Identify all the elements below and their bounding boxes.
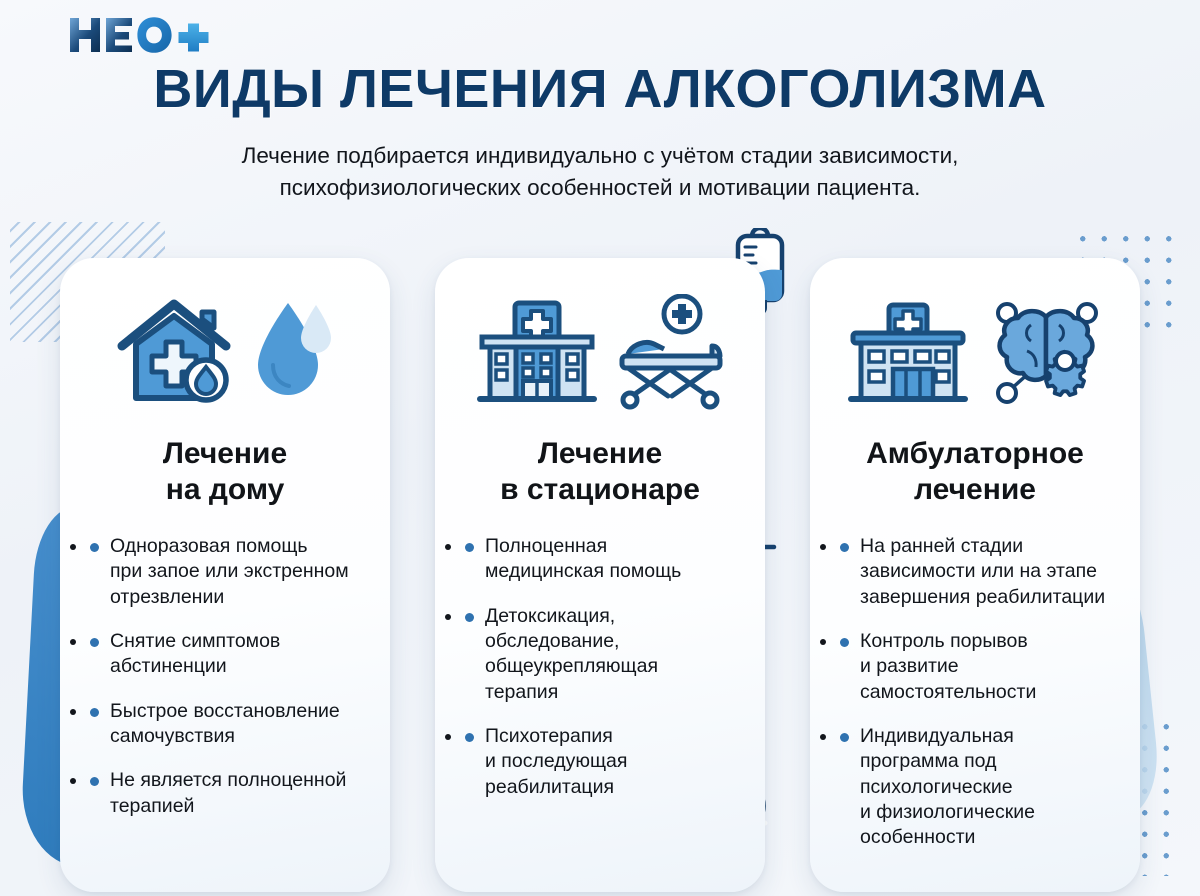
bullet-line: терапия	[485, 680, 745, 705]
bullet-line: отрезвлении	[110, 585, 370, 610]
infographic-canvas: ВИДЫ ЛЕЧЕНИЯ АЛКОГОЛИЗМА Лечение подбира…	[0, 0, 1200, 896]
card-title: Лечение на дому	[80, 436, 370, 508]
card-icons	[455, 288, 745, 418]
bullet-line: обследование,	[485, 629, 745, 654]
card-title-line-2: на дому	[80, 472, 370, 508]
bullet-line: общеукрепляющая	[485, 654, 745, 679]
bullet-line: и физиологические	[860, 800, 1120, 825]
bullet-line: Контроль порывов	[860, 629, 1120, 654]
page-subtitle: Лечение подбирается индивидуально с учёт…	[90, 140, 1110, 204]
card-bullet-list: На ранней стадии зависимости или на этап…	[830, 534, 1120, 851]
card-title-line-2: в стационаре	[455, 472, 745, 508]
card-inpatient-treatment[interactable]: Лечение в стационаре Полноценная медицин…	[435, 258, 765, 892]
bullet-line: и последующая	[485, 749, 745, 774]
bullet-line: Психотерапия	[485, 724, 745, 749]
bullet-line: терапией	[110, 794, 370, 819]
treatment-cards-row: Лечение на дому Одноразовая помощь при з…	[0, 258, 1200, 892]
bullet-line: Одноразовая помощь	[110, 534, 370, 559]
list-item: Детоксикация, обследование, общеукрепляю…	[463, 604, 745, 705]
hospital-building-icon	[474, 297, 600, 409]
subtitle-line-1: Лечение подбирается индивидуально с учёт…	[90, 140, 1110, 172]
bullet-line: Снятие симптомов	[110, 629, 370, 654]
list-item: Психотерапия и последующая реабилитация	[463, 724, 745, 800]
card-title: Лечение в стационаре	[455, 436, 745, 508]
bullet-line: психологические	[860, 775, 1120, 800]
bullet-line: и развитие	[860, 654, 1120, 679]
bullet-line: особенности	[860, 825, 1120, 850]
brain-gear-icon	[987, 295, 1105, 411]
water-drop-icon	[254, 297, 336, 409]
subtitle-line-2: психофизиологических особенностей и моти…	[90, 172, 1110, 204]
list-item: Снятие симптомов абстиненции	[88, 629, 370, 680]
bullet-line: Индивидуальная	[860, 724, 1120, 749]
card-bullet-list: Одноразовая помощь при запое или экстрен…	[80, 534, 370, 819]
list-item: Не является полноценной терапией	[88, 768, 370, 819]
card-bullet-list: Полноценная медицинская помощь Детоксика…	[455, 534, 745, 800]
bullet-line: Полноценная	[485, 534, 745, 559]
list-item: Контроль порывов и развитие самостоятель…	[838, 629, 1120, 705]
card-outpatient-treatment[interactable]: Амбулаторное лечение На ранней стадии за…	[810, 258, 1140, 892]
card-title-line-1: Лечение	[80, 436, 370, 472]
bullet-line: медицинская помощь	[485, 559, 745, 584]
card-icons	[830, 288, 1120, 418]
list-item: Полноценная медицинская помощь	[463, 534, 745, 585]
bullet-line: Быстрое восстановление	[110, 699, 370, 724]
bullet-line: зависимости или на этапе	[860, 559, 1120, 584]
list-item: Одноразовая помощь при запое или экстрен…	[88, 534, 370, 610]
card-icons	[80, 288, 370, 418]
bullet-line: завершения реабилитации	[860, 585, 1120, 610]
hospital-bed-icon	[616, 294, 726, 412]
card-title: Амбулаторное лечение	[830, 436, 1120, 508]
list-item: Индивидуальная программа под психологиче…	[838, 724, 1120, 851]
bullet-line: программа под	[860, 749, 1120, 774]
list-item: Быстрое восстановление самочувствия	[88, 699, 370, 750]
bullet-line: Не является полноценной	[110, 768, 370, 793]
clinic-building-icon	[845, 297, 971, 409]
home-medical-icon	[114, 294, 238, 412]
list-item: На ранней стадии зависимости или на этап…	[838, 534, 1120, 610]
bullet-line: самостоятельности	[860, 680, 1120, 705]
bullet-line: абстиненции	[110, 654, 370, 679]
bullet-line: самочувствия	[110, 724, 370, 749]
page-title: ВИДЫ ЛЕЧЕНИЯ АЛКОГОЛИЗМА	[0, 58, 1200, 120]
card-home-treatment[interactable]: Лечение на дому Одноразовая помощь при з…	[60, 258, 390, 892]
card-title-line-1: Лечение	[455, 436, 745, 472]
card-title-line-1: Амбулаторное	[830, 436, 1120, 472]
bullet-line: при запое или экстренном	[110, 559, 370, 584]
bullet-line: На ранней стадии	[860, 534, 1120, 559]
card-title-line-2: лечение	[830, 472, 1120, 508]
brand-logo	[66, 14, 226, 54]
bullet-line: реабилитация	[485, 775, 745, 800]
bullet-line: Детоксикация,	[485, 604, 745, 629]
